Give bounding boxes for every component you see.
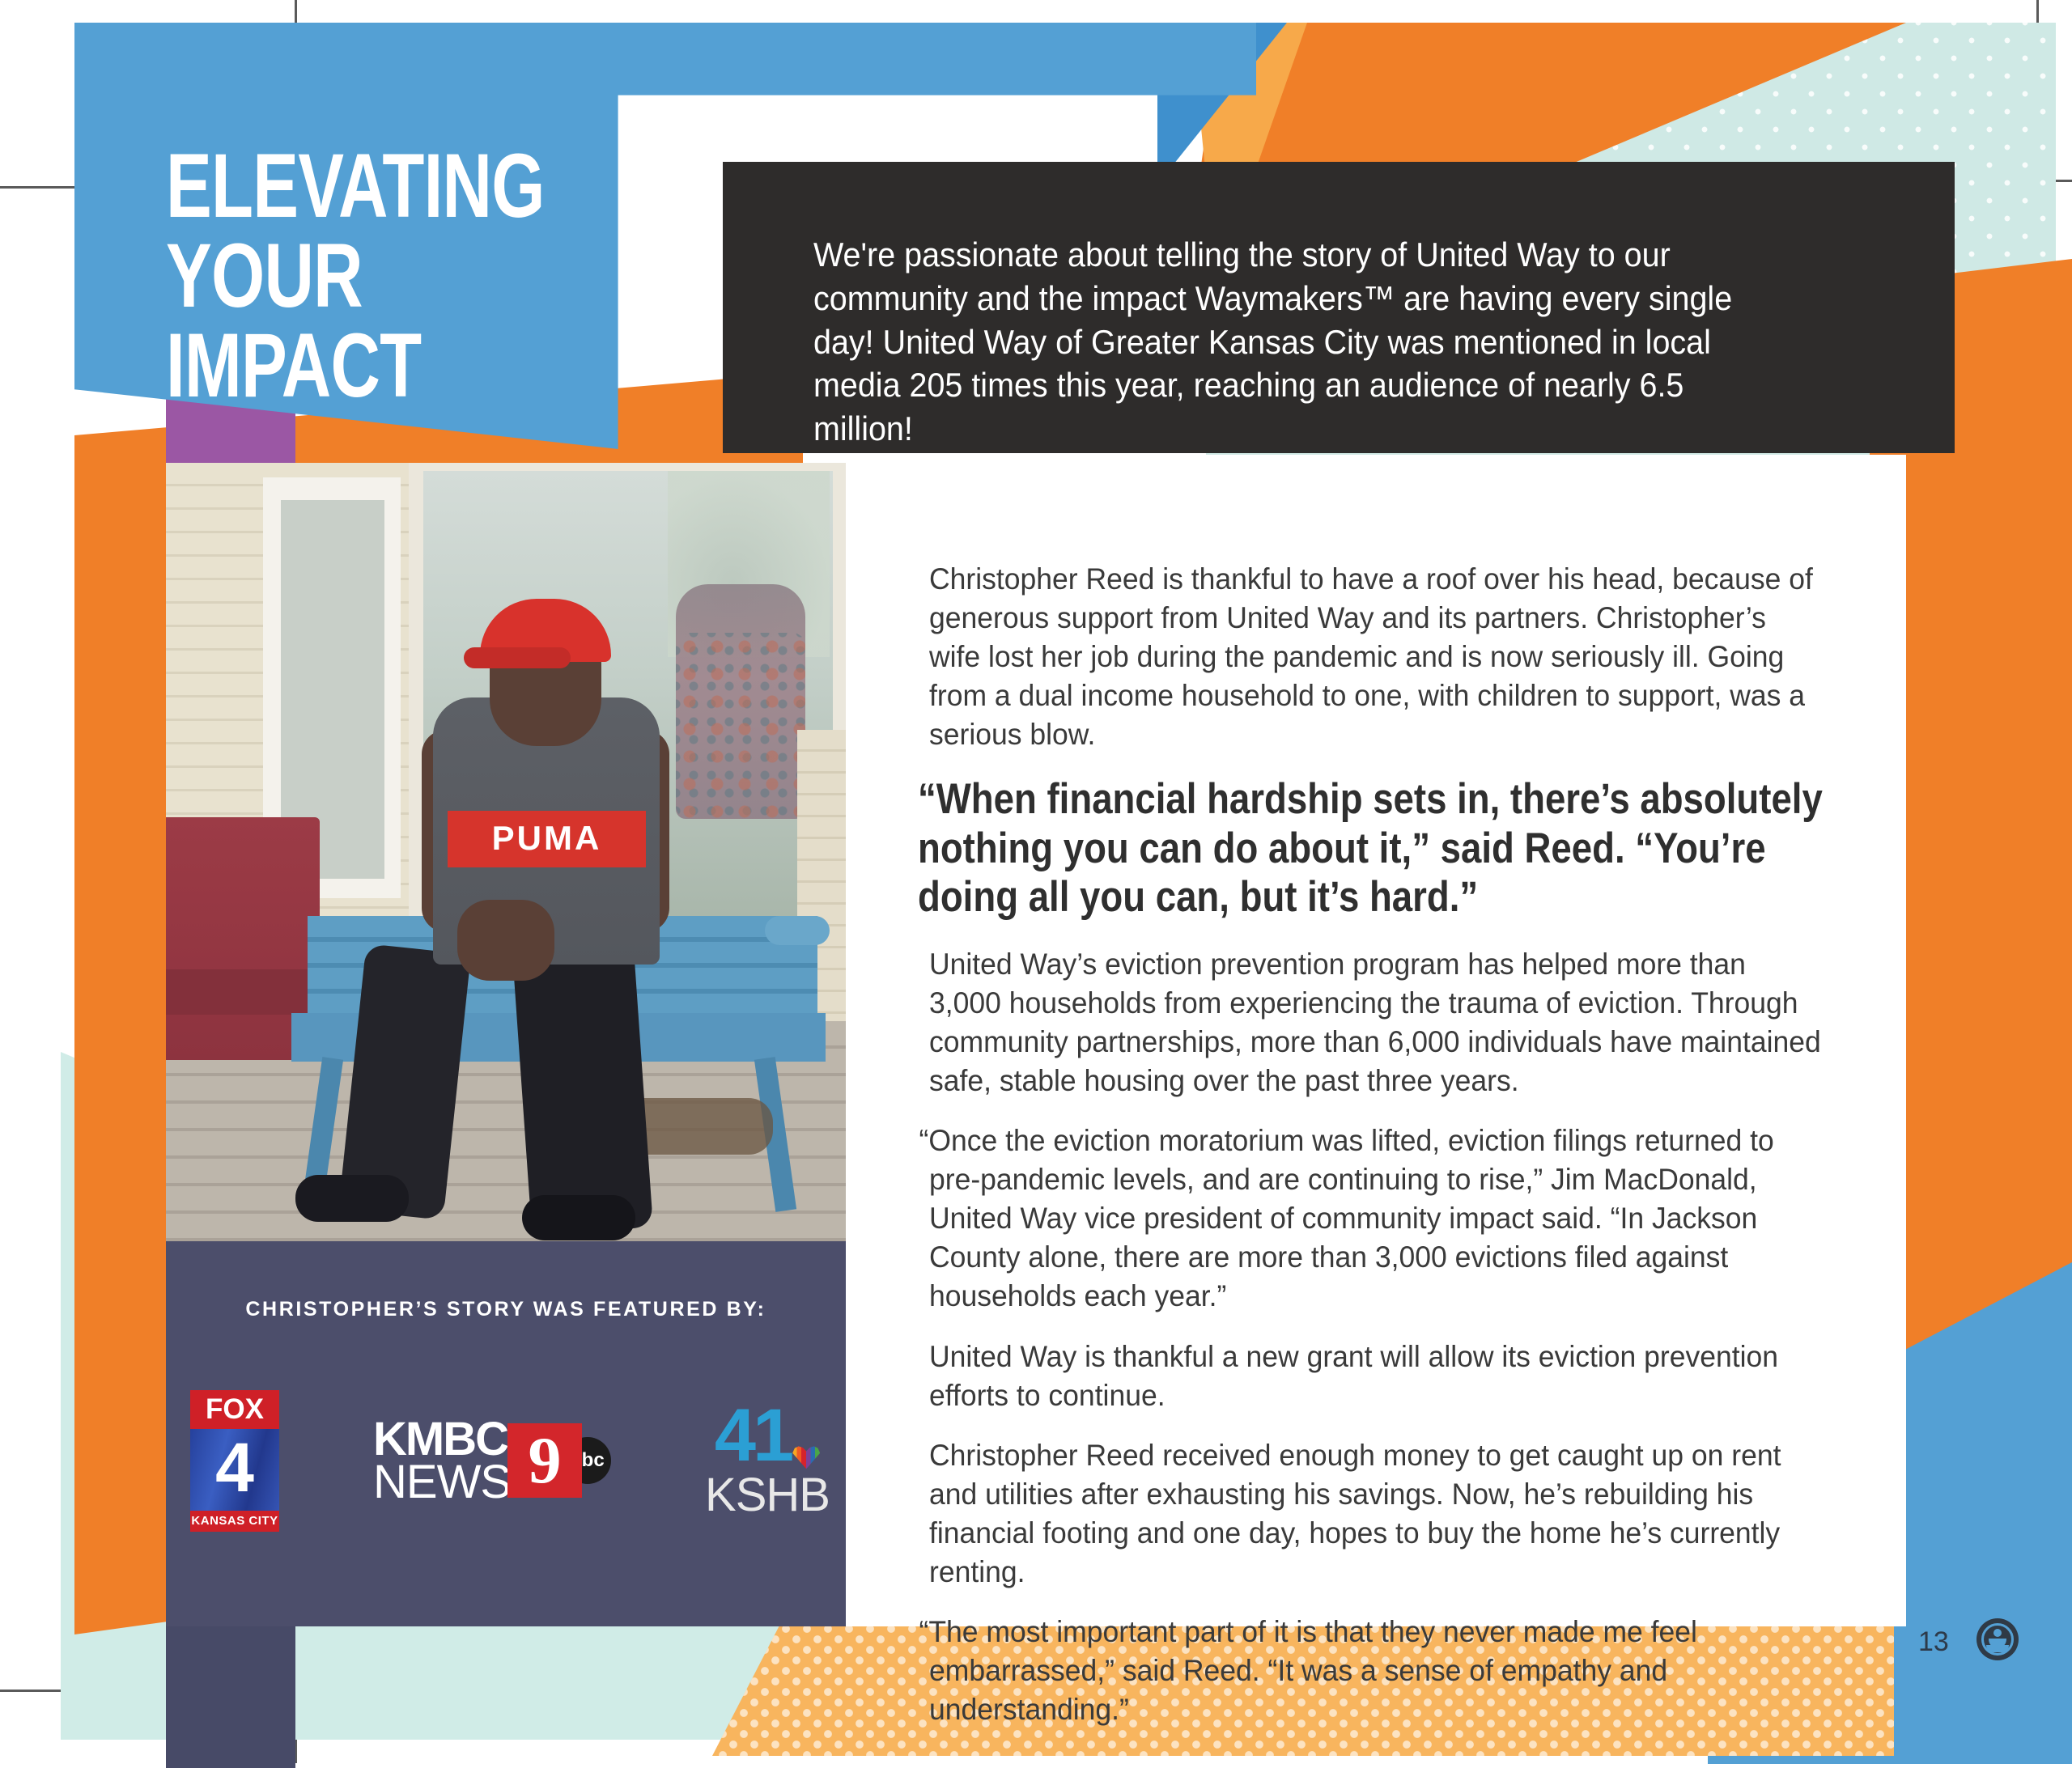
right-sneaker xyxy=(522,1195,635,1240)
kshb-channel-number: 41 xyxy=(715,1402,791,1469)
christopher-reed-photo: PUMA xyxy=(166,463,846,1241)
media-feature-label: CHRISTOPHER’S STORY WAS FEATURED BY: xyxy=(166,1298,846,1321)
uw-logo-head xyxy=(1993,1629,2002,1637)
page-canvas: ELEVATING YOUR IMPACT We're passionate a… xyxy=(0,0,2072,1763)
article-paragraph-5: Christopher Reed received enough money t… xyxy=(929,1436,1824,1592)
page-title-line1: ELEVATING xyxy=(166,135,545,236)
fox4-wordmark: FOX xyxy=(190,1390,279,1429)
fox4-kansas-city-logo: FOX 4 KANSAS CITY xyxy=(190,1390,279,1532)
article-paragraph-1: Christopher Reed is thankful to have a r… xyxy=(929,560,1824,754)
kshb-callsign: KSHB xyxy=(705,1472,830,1519)
kmbc-channel-number: 9 xyxy=(529,1423,562,1498)
fox4-channel: 4 xyxy=(190,1429,279,1511)
nbc-peacock-icon xyxy=(792,1446,820,1469)
article-paragraph-6: “The most important part of it is that t… xyxy=(929,1613,1824,1729)
window-paisley-curtain xyxy=(676,633,805,819)
right-leg xyxy=(512,944,653,1236)
page-title: ELEVATING YOUR IMPACT xyxy=(166,142,547,411)
red-wicker-chair-seat xyxy=(166,969,328,1015)
page-number: 13 xyxy=(1918,1626,1949,1658)
kmbc-news-9-abc-logo: KMBC NEWS 9 abc xyxy=(373,1418,611,1504)
blue-bench-arm xyxy=(765,916,830,945)
article-paragraph-2: United Way’s eviction prevention program… xyxy=(929,945,1824,1100)
41-kshb-nbc-logo: 41 KSHB xyxy=(705,1402,830,1520)
united-way-logo-icon xyxy=(1976,1618,2019,1660)
cap-brim xyxy=(464,647,571,668)
clasped-hands xyxy=(457,900,554,981)
intro-text: We're passionate about telling the story… xyxy=(813,233,1787,451)
article-body: Christopher Reed is thankful to have a r… xyxy=(929,560,1862,1750)
left-sneaker xyxy=(295,1175,409,1222)
kmbc-callsign: KMBC xyxy=(373,1418,511,1461)
kmbc-wordmark: KMBC NEWS xyxy=(373,1418,511,1504)
kmbc-channel-badge: 9 xyxy=(507,1423,582,1498)
fox4-market: KANSAS CITY xyxy=(190,1511,279,1532)
shirt-brand-text: PUMA xyxy=(448,819,646,861)
media-logo-row: FOX 4 KANSAS CITY KMBC NEWS 9 abc 41 KSH… xyxy=(190,1384,830,1537)
article-paragraph-3: “Once the eviction moratorium was lifted… xyxy=(929,1121,1824,1316)
pull-quote: “When financial hardship sets in, there’… xyxy=(918,775,1864,922)
article-paragraph-4: United Way is thankful a new grant will … xyxy=(929,1338,1824,1415)
kmbc-news-word: NEWS xyxy=(373,1461,511,1503)
page-title-line2: YOUR IMPACT xyxy=(166,231,547,411)
